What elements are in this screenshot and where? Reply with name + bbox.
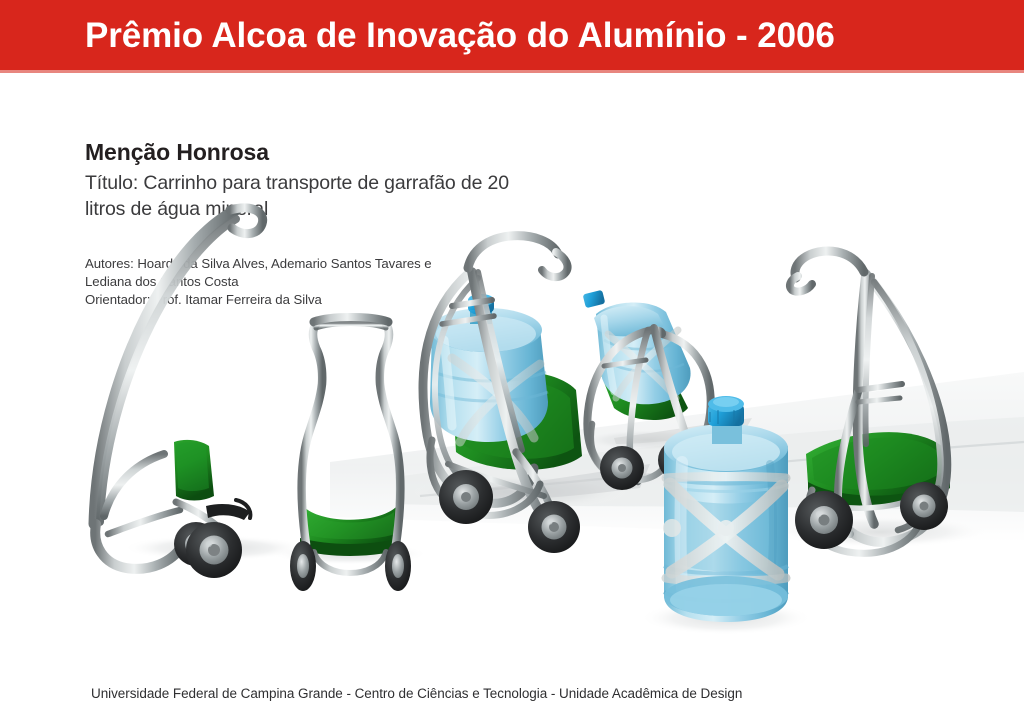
ground-plane — [330, 372, 1024, 542]
authors-line-1: Autores: Hoardy da Silva Alves, Ademario… — [85, 255, 505, 273]
bottle-body — [664, 430, 788, 622]
wheel-left-tilted — [600, 446, 644, 490]
basket-green-right — [806, 432, 950, 497]
advisor-line: Orientador: Prof. Itamar Ferreira da Sil… — [85, 291, 505, 309]
basket-green-front — [302, 507, 398, 548]
wheel-right-right-cart — [900, 482, 948, 530]
project-title: Título: Carrinho para transporte de garr… — [85, 170, 525, 222]
bottle-cap-standalone — [708, 396, 744, 426]
wheel-rear-side — [174, 522, 218, 566]
wheel-right-upright — [528, 501, 580, 553]
award-text-block: Menção Honrosa Título: Carrinho para tra… — [85, 138, 545, 222]
cart-loaded-tilted — [578, 290, 752, 490]
page-title: Prêmio Alcoa de Inovação do Alumínio - 2… — [85, 13, 835, 59]
cart-front-view-empty — [272, 318, 428, 592]
header-band-underline — [0, 70, 1024, 73]
basket-green-upright — [452, 371, 582, 470]
water-bottle-standalone — [640, 396, 812, 635]
wheel-right-tilted — [658, 440, 698, 480]
basket-green-side — [174, 440, 214, 501]
credits-block: Autores: Hoardy da Silva Alves, Ademario… — [85, 255, 505, 309]
poster-canvas: Prêmio Alcoa de Inovação do Alumínio - 2… — [0, 0, 1024, 707]
wheel-right-front-view — [385, 541, 411, 591]
wheel-left-upright — [439, 470, 493, 524]
wheel-left-front-view — [290, 541, 316, 591]
water-bottle-on-cart — [430, 294, 548, 442]
footer-institution: Universidade Federal de Campina Grande -… — [91, 686, 742, 701]
water-bottle-on-cart-tilted — [583, 290, 691, 404]
authors-line-2: Lediana dos Santos Costa — [85, 273, 505, 291]
wheel-front-side — [186, 522, 242, 578]
award-label: Menção Honrosa — [85, 138, 545, 166]
bottle-strap — [663, 477, 786, 582]
bottle-shoulder — [664, 424, 788, 472]
cart-three-quarter-empty — [772, 251, 988, 553]
bottle-cap-tilted — [583, 290, 606, 308]
wheel-left-right-cart — [795, 491, 853, 549]
